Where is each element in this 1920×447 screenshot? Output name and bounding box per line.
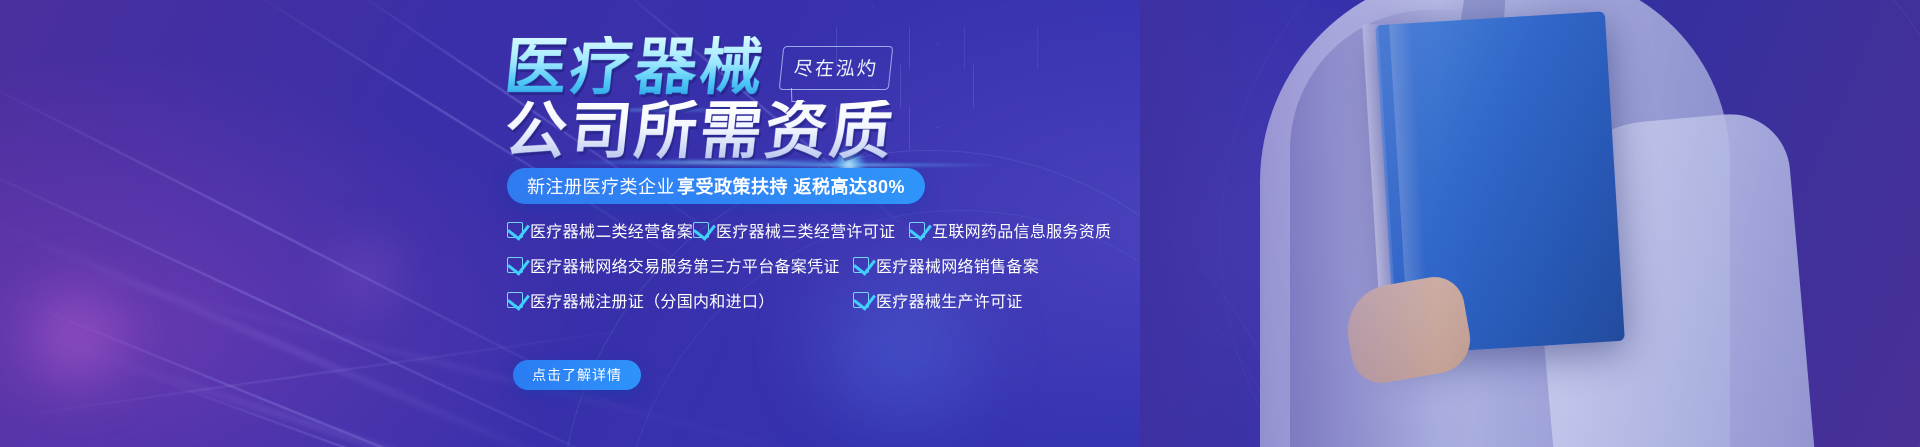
list-item-label: 医疗器械网络交易服务第三方平台备案凭证 [530, 253, 840, 277]
learn-more-button[interactable]: 点击了解详情 [513, 360, 641, 390]
headline-underglow [560, 160, 890, 165]
pill-prefix-text: 新注册医疗类企业 [527, 173, 675, 199]
brand-tag-bubble: 尽在泓灼 [779, 46, 894, 90]
checklist-col-left: 医疗器械注册证（分国内和进口） [507, 288, 853, 312]
list-item[interactable]: 医疗器械二类经营备案 [507, 218, 693, 242]
checklist-col-middle: 医疗器械三类经营许可证 [693, 218, 873, 242]
pill-emphasis-text: 享受政策扶持 返税高达80% [677, 173, 905, 199]
headline-row: 医疗器械 尽在泓灼 [505, 36, 891, 98]
checklist-row: 医疗器械二类经营备案 医疗器械三类经营许可证 互联网药品信息服务资质 [507, 218, 1067, 242]
list-item-label: 医疗器械注册证（分国内和进口） [530, 288, 775, 312]
figure-color-tint [1140, 0, 1920, 447]
check-icon [853, 292, 869, 308]
headline-line-1: 医疗器械 [502, 36, 769, 98]
checklist-col-left: 医疗器械二类经营备案 [507, 218, 693, 242]
list-item-label: 医疗器械三类经营许可证 [716, 218, 895, 242]
checklist-col-left: 医疗器械网络交易服务第三方平台备案凭证 [507, 253, 853, 277]
list-item[interactable]: 医疗器械生产许可证 [853, 288, 1063, 312]
doctor-photo [1140, 0, 1920, 447]
check-icon [909, 222, 925, 238]
headline-line-2: 公司所需资质 [502, 100, 899, 162]
checklist-col-right: 医疗器械网络销售备案 [853, 253, 1063, 277]
list-item[interactable]: 医疗器械网络交易服务第三方平台备案凭证 [507, 253, 853, 277]
checklist-col-right: 医疗器械生产许可证 [853, 288, 1063, 312]
qualification-checklist: 医疗器械二类经营备案 医疗器械三类经营许可证 互联网药品信息服务资质 [507, 218, 1067, 323]
checklist-row: 医疗器械网络交易服务第三方平台备案凭证 医疗器械网络销售备案 [507, 253, 1067, 277]
list-item[interactable]: 医疗器械网络销售备案 [853, 253, 1063, 277]
policy-highlight-pill: 新注册医疗类企业 享受政策扶持 返税高达80% [507, 168, 925, 204]
check-icon [507, 257, 523, 273]
list-item-label: 互联网药品信息服务资质 [932, 218, 1111, 242]
check-icon [507, 292, 523, 308]
medical-device-promo-banner: 医疗器械 尽在泓灼 公司所需资质 新注册医疗类企业 享受政策扶持 返税高达80%… [0, 0, 1920, 447]
list-item-label: 医疗器械二类经营备案 [530, 218, 693, 242]
banner-content: 医疗器械 尽在泓灼 公司所需资质 新注册医疗类企业 享受政策扶持 返税高达80%… [0, 0, 1100, 447]
checklist-row: 医疗器械注册证（分国内和进口） 医疗器械生产许可证 [507, 288, 1067, 312]
check-icon [853, 257, 869, 273]
check-icon [693, 222, 709, 238]
list-item[interactable]: 医疗器械注册证（分国内和进口） [507, 288, 853, 312]
check-icon [507, 222, 523, 238]
list-item[interactable]: 医疗器械三类经营许可证 [693, 218, 873, 242]
list-item-label: 医疗器械生产许可证 [876, 288, 1023, 312]
list-item-label: 医疗器械网络销售备案 [876, 253, 1039, 277]
list-item[interactable]: 互联网药品信息服务资质 [909, 218, 1111, 242]
checklist-col-right: 互联网药品信息服务资质 [909, 218, 1111, 242]
